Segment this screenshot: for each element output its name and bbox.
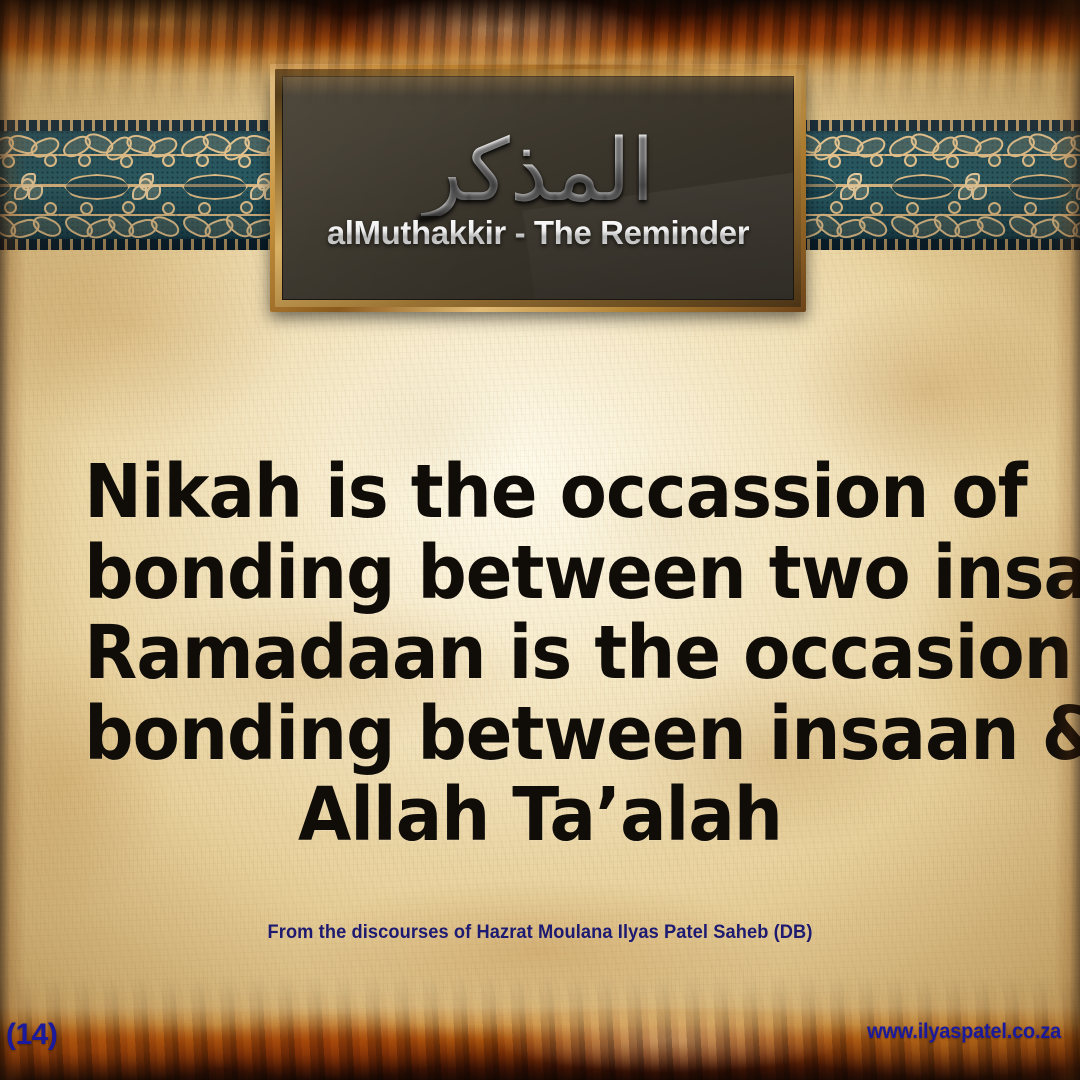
logo-arabic-title: المذكر <box>421 126 654 216</box>
burnt-edge-right <box>1054 0 1080 1080</box>
quote-line-3: Ramadaan is the occasion of <box>84 613 995 694</box>
quote-block: Nikah is the occassion of bonding betwee… <box>50 452 1030 855</box>
burnt-edge-top-texture <box>0 0 1080 110</box>
quote-line-1: Nikah is the occassion of <box>84 452 995 533</box>
website-url[interactable]: www.ilyaspatel.co.za <box>867 1020 1061 1044</box>
burnt-edge-left <box>0 0 26 1080</box>
poster-canvas: المذكر alMuthakkir - The Reminder Nikah … <box>0 0 1080 1080</box>
quote-line-2: bonding between two insaan, <box>84 533 995 614</box>
attribution-text: From the discourses of Hazrat Moulana Il… <box>22 922 1059 944</box>
quote-line-4: bonding between insaan & <box>84 694 995 775</box>
page-number: (14) <box>6 1018 57 1052</box>
quote-line-5: Allah Ta’alah <box>84 775 995 856</box>
logo-latin-title: alMuthakkir - The Reminder <box>327 214 749 252</box>
